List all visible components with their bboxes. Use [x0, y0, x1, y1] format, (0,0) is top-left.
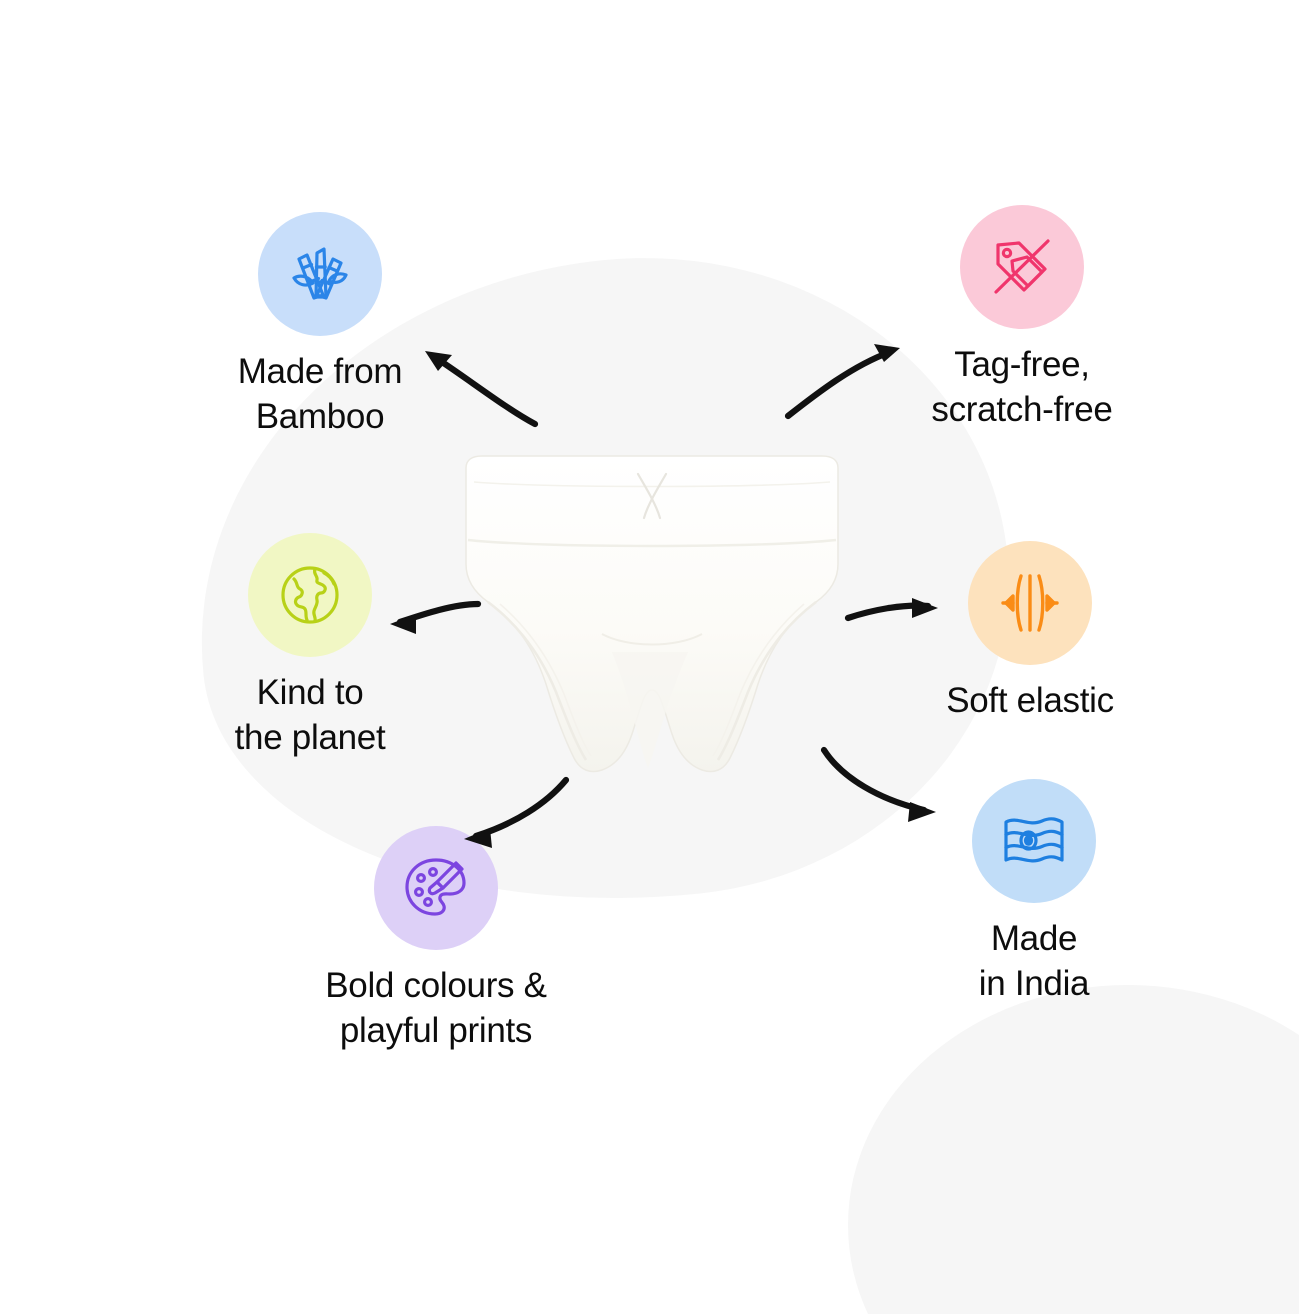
feature-label: Made in India [979, 917, 1089, 1007]
bamboo-icon [283, 237, 357, 311]
product-image [452, 452, 852, 782]
badge-colours [374, 826, 498, 950]
background-blob-corner [848, 985, 1299, 1314]
badge-india [972, 779, 1096, 903]
badge-planet [248, 533, 372, 657]
badge-tagfree [960, 205, 1084, 329]
india-flag-icon [996, 803, 1072, 879]
badge-elastic [968, 541, 1092, 665]
feature-bold-colours[interactable]: Bold colours & playful prints [246, 826, 626, 1054]
globe-icon [274, 559, 346, 631]
feature-label: Bold colours & playful prints [325, 964, 546, 1054]
feature-kind-to-planet[interactable]: Kind to the planet [160, 533, 460, 761]
feature-made-from-bamboo[interactable]: Made from Bamboo [170, 212, 470, 440]
feature-label: Tag-free, scratch-free [931, 343, 1112, 433]
infographic-canvas: Made from Bamboo Tag-free, scratch-free [0, 0, 1299, 1314]
paint-palette-icon [399, 851, 473, 925]
badge-bamboo [258, 212, 382, 336]
elastic-stretch-icon [994, 567, 1066, 639]
feature-label: Soft elastic [946, 679, 1114, 724]
feature-label: Kind to the planet [235, 671, 386, 761]
feature-made-in-india[interactable]: Made in India [884, 779, 1184, 1007]
feature-tag-free[interactable]: Tag-free, scratch-free [862, 205, 1182, 433]
no-tag-icon [985, 230, 1059, 304]
feature-label: Made from Bamboo [238, 350, 403, 440]
feature-soft-elastic[interactable]: Soft elastic [880, 541, 1180, 724]
